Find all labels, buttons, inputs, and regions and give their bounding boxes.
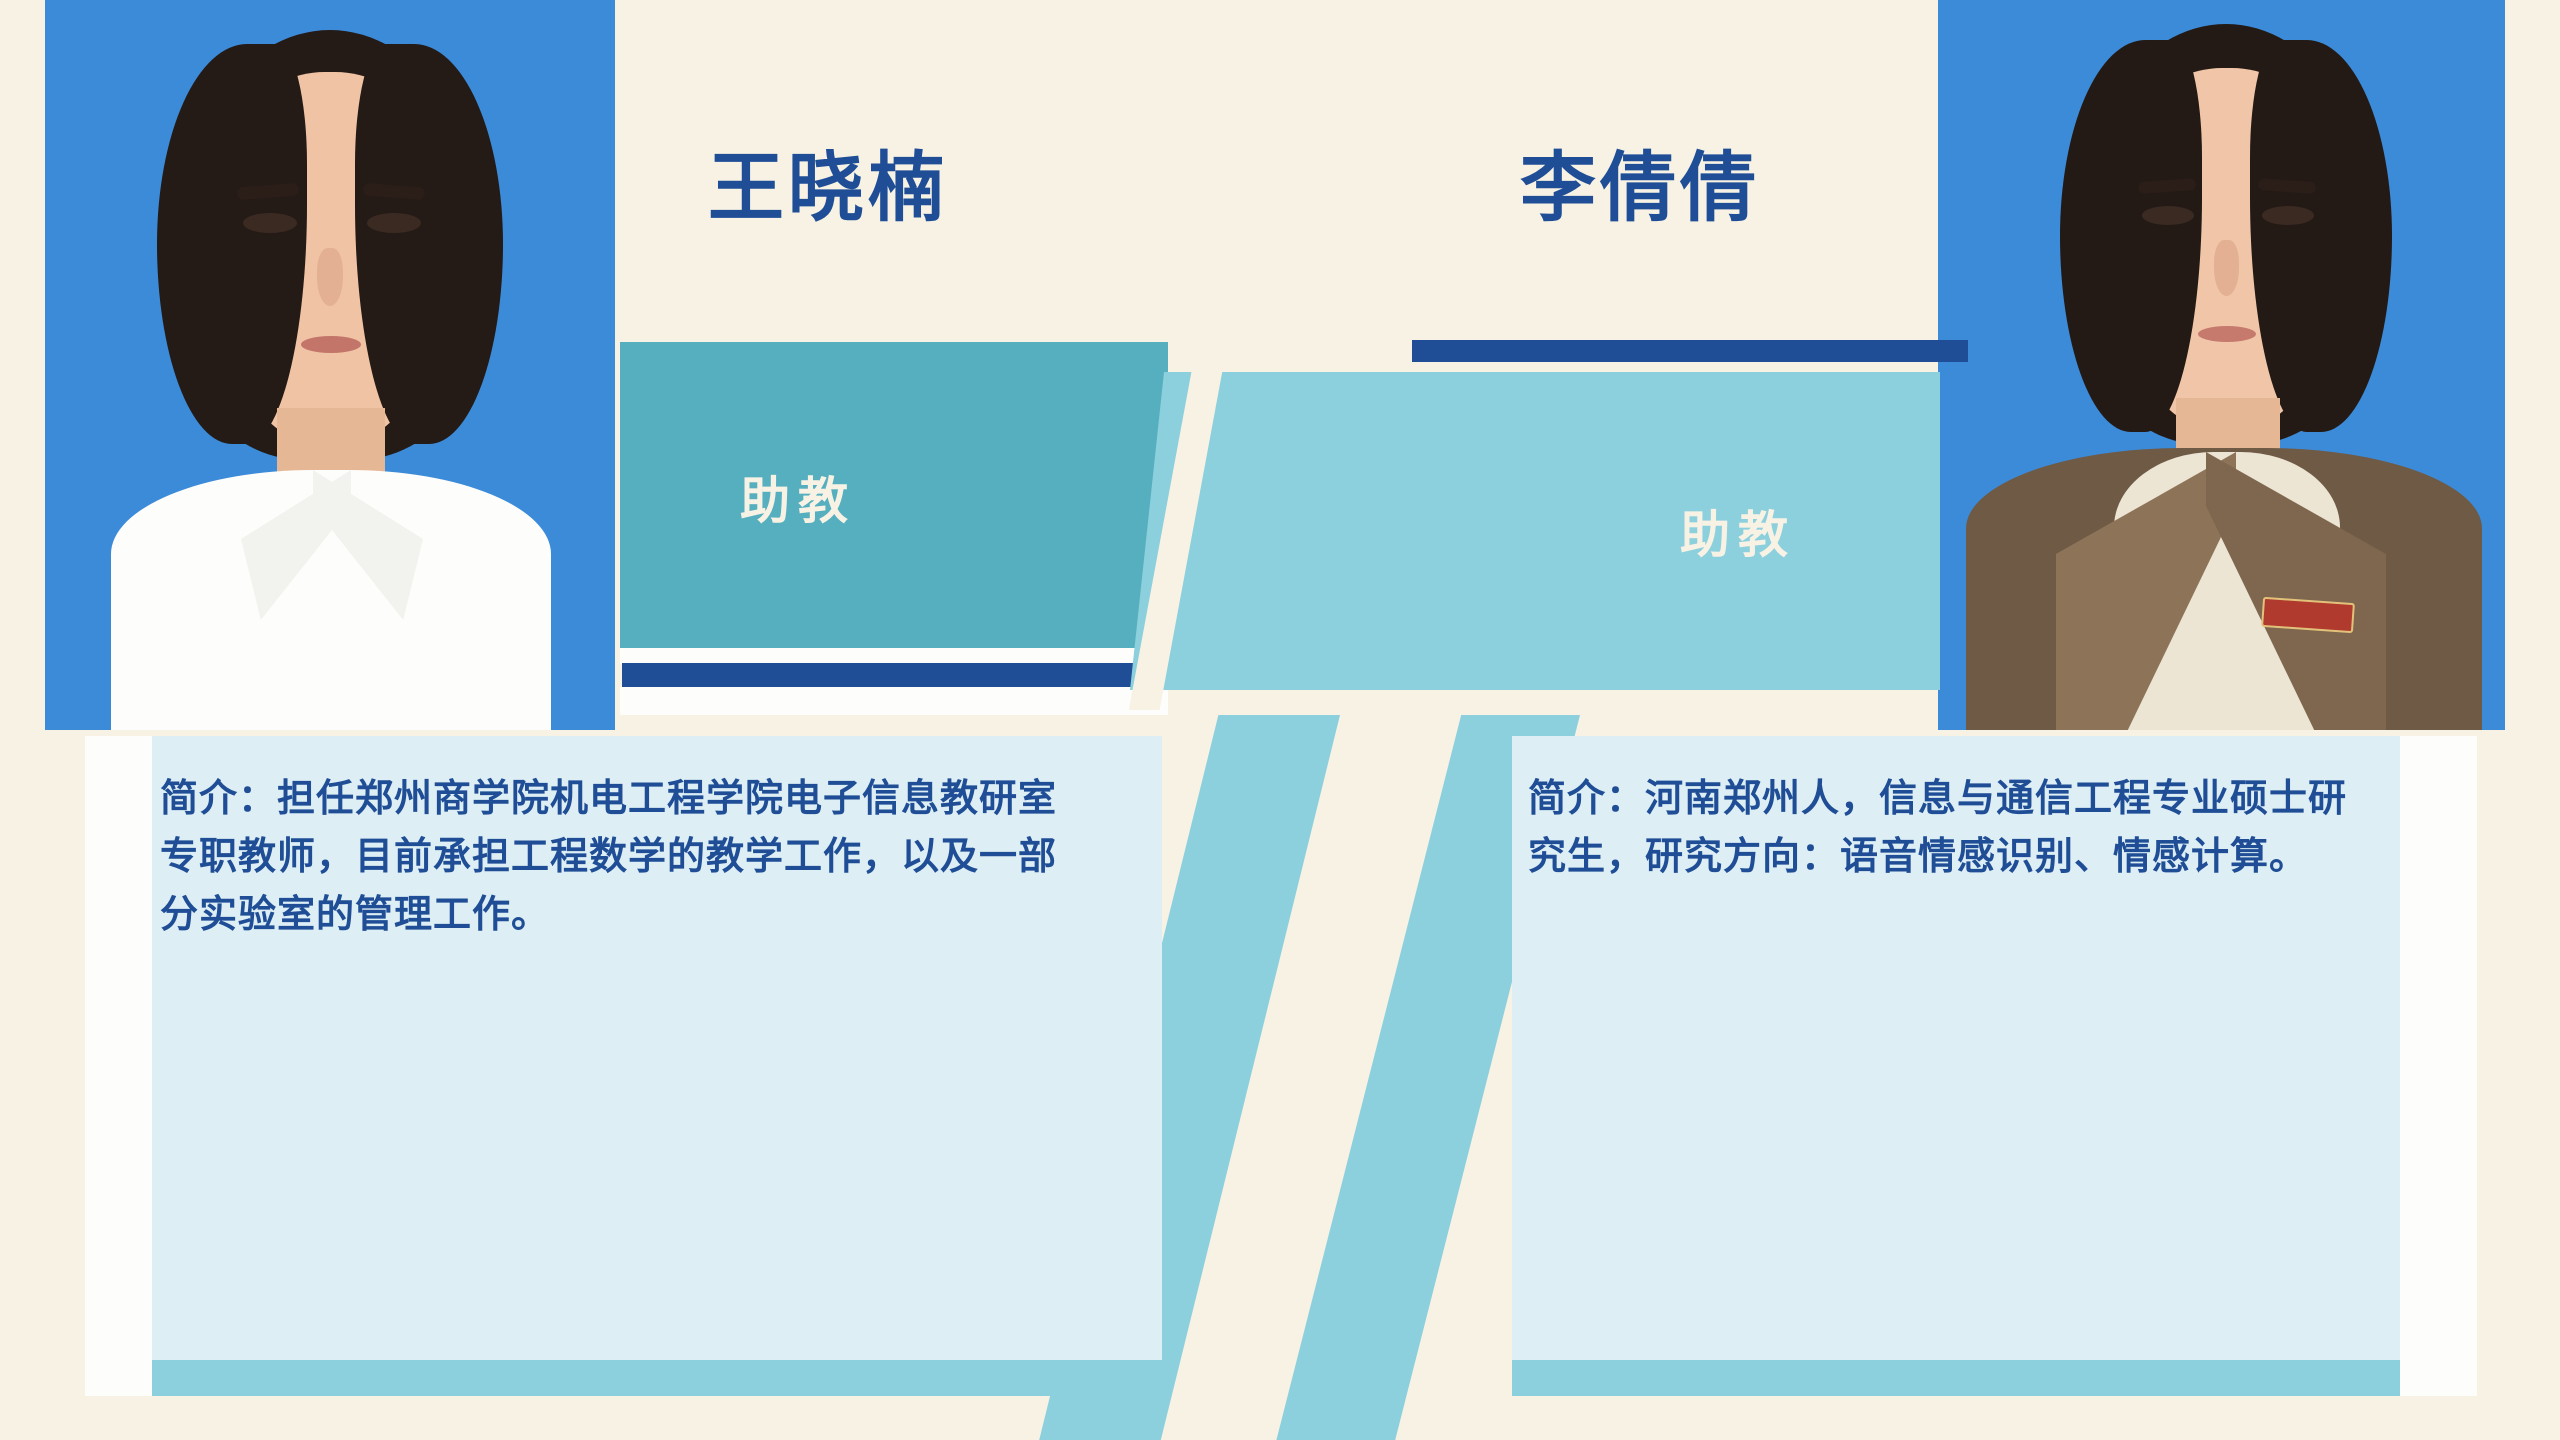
role-label-li-qianqian: 助教: [1680, 495, 1796, 567]
bio-text-wang-xiaonan: 简介：担任郑州商学院机电工程学院电子信息教研室专职教师，目前承担工程数学的教学工…: [160, 770, 1080, 943]
profile-name-li-qianqian: 李倩倩: [1520, 126, 1760, 236]
portrait-eye-right: [367, 213, 421, 233]
portrait-eye-left: [2142, 206, 2194, 225]
bio-panel-base-left: [152, 1360, 1162, 1396]
portrait-hair-front-left: [157, 44, 307, 444]
role-gap-lower-left: [620, 687, 1168, 715]
portrait-mouth: [2198, 326, 2256, 342]
portrait-hair-front-right: [355, 44, 503, 444]
accent-rule-wang-xiaonan: [622, 663, 1142, 687]
bio-side-strip-right: [2400, 736, 2477, 1396]
portrait-photo-wang-xiaonan[interactable]: [45, 0, 615, 730]
portrait-school-badge: [2261, 597, 2355, 633]
portrait-hair-front-right: [2250, 40, 2392, 432]
portrait-nose: [317, 248, 343, 306]
bio-side-strip-left: [85, 736, 152, 1396]
role-block-li-qianqian: 助教: [1130, 372, 1940, 690]
bio-text-li-qianqian: 简介：河南郑州人，信息与通信工程专业硕士研究生，研究方向：语音情感识别、情感计算…: [1528, 770, 2368, 886]
portrait-nose: [2214, 240, 2239, 296]
portrait-photo-li-qianqian[interactable]: [1938, 0, 2505, 730]
role-block-wang-xiaonan: 助教: [620, 342, 1168, 652]
slide-canvas: 王晓楠 李倩倩 助教 助教 简介：担任郑州商学院机电工程学院电子信息教研室专职教…: [0, 0, 2560, 1440]
role-gap-upper-left: [620, 648, 1168, 664]
portrait-mouth: [301, 336, 361, 353]
role-label-wang-xiaonan: 助教: [740, 461, 856, 533]
portrait-eye-right: [2262, 206, 2314, 225]
accent-rule-li-qianqian: [1412, 340, 1968, 362]
bio-panel-base-right: [1512, 1360, 2400, 1396]
portrait-eye-left: [243, 213, 297, 233]
profile-name-wang-xiaonan: 王晓楠: [708, 126, 948, 236]
portrait-hair-front-left: [2060, 40, 2202, 432]
